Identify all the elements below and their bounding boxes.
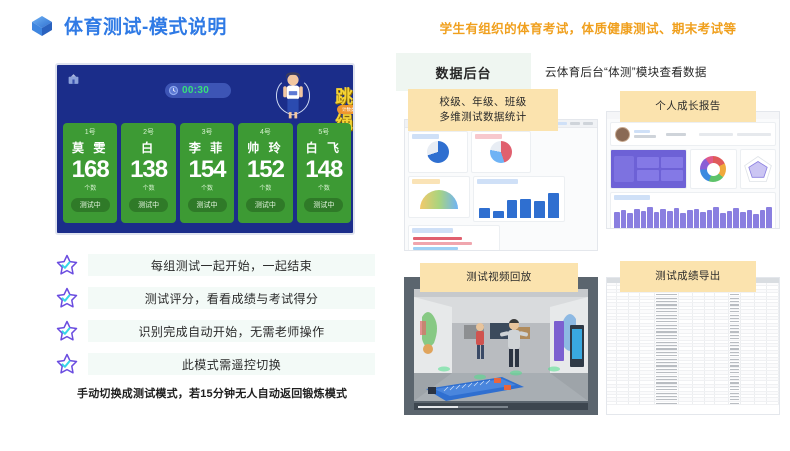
avatar (615, 127, 630, 142)
player-unit: 个数 (201, 183, 213, 192)
player-count: 148 (305, 157, 342, 182)
player-status: 测试中 (304, 198, 343, 212)
feature-item: 测试评分，看看成绩与考试得分 (55, 286, 375, 310)
feature-text: 识别完成自动开始，无需老师操作 (88, 320, 375, 342)
player-number: 3号 (202, 127, 213, 137)
player-cards-row: 1号 莫 雯 168 个数 测试中 2号 白 138 个数 测试中 3号 李 菲… (63, 123, 351, 223)
player-number: 1号 (85, 127, 96, 137)
toolbar-chip (570, 122, 580, 125)
caption-school-stats: 校级、年级、班级 多维测试数据统计 (408, 89, 558, 131)
player-card: 1号 莫 雯 168 个数 测试中 (63, 123, 117, 223)
player-card: 4号 帅 玲 152 个数 测试中 (238, 123, 292, 223)
card-title-placeholder (412, 228, 453, 233)
player-count: 168 (72, 157, 109, 182)
donut-chart (700, 156, 726, 182)
star-check-icon (55, 286, 79, 310)
feature-footnote: 手动切换成测试模式，若15分钟无人自动返回锻炼模式 (77, 385, 375, 401)
backend-description: 云体育后台“体测”模块查看数据 (531, 53, 780, 91)
feature-item: 每组测试一起开始，一起结束 (55, 253, 375, 277)
feature-text: 此模式需遥控切换 (88, 353, 375, 375)
player-name: 白 飞 (306, 139, 342, 156)
vertical-bar-chart (474, 186, 564, 218)
player-number: 4号 (260, 127, 271, 137)
screenshot-grid: 校级、年级、班级 多维测试数据统计 个人成长报告 测试视频回放 测试成绩导出 (396, 95, 780, 425)
personal-growth-report-screenshot[interactable] (606, 111, 780, 229)
left-column: 00:30 跳绳 计数类项目 1号 莫 雯 168 个数 测试中 (55, 63, 355, 401)
card-title-placeholder (475, 134, 502, 139)
player-card: 5号 白 飞 148 个数 测试中 (297, 123, 351, 223)
school-stats-dashboard-screenshot[interactable] (404, 119, 598, 251)
caption-video-playback: 测试视频回放 (420, 263, 578, 292)
horizontal-bar-card (408, 225, 500, 251)
score-summary-card (610, 149, 687, 189)
star-check-icon (55, 352, 79, 376)
horizontal-bar-chart (409, 235, 499, 251)
player-status: 测试中 (188, 198, 227, 212)
test-video-playback-screenshot[interactable] (404, 277, 598, 415)
export-spreadsheet (607, 278, 779, 414)
hexagon-logo-icon (30, 14, 54, 38)
dashboard-body (405, 128, 597, 251)
player-count: 154 (188, 157, 225, 182)
bar-chart-card (473, 176, 565, 222)
donut-chart (427, 141, 449, 163)
player-status: 测试中 (71, 198, 110, 212)
caption-score-export: 测试成绩导出 (620, 261, 756, 292)
feature-list: 每组测试一起开始，一起结束 测试评分，看看成绩与考试得分 识别完成自动开始，无需… (55, 253, 375, 401)
caption-line: 多维测试数据统计 (418, 110, 548, 125)
right-headline: 学生有组织的体育考试，体质健康测试、期末考试等 (396, 18, 780, 37)
card-title-placeholder (412, 134, 439, 139)
player-status: 测试中 (246, 198, 285, 212)
score-export-table-screenshot[interactable] (606, 277, 780, 415)
caption-growth-report: 个人成长报告 (620, 91, 756, 122)
player-name: 莫 雯 (72, 139, 108, 156)
player-name: 白 (141, 139, 156, 156)
player-card: 2号 白 138 个数 测试中 (121, 123, 175, 223)
player-unit: 个数 (143, 183, 155, 192)
star-check-icon (55, 253, 79, 277)
table-body (607, 283, 779, 414)
card-title-placeholder (477, 179, 518, 184)
player-unit: 个数 (259, 183, 271, 192)
right-column: 学生有组织的体育考试，体质健康测试、期末考试等 数据后台 云体育后台“体测”模块… (396, 18, 780, 425)
feature-item: 识别完成自动开始，无需老师操作 (55, 319, 375, 343)
page-title: 体育测试-模式说明 (64, 12, 227, 39)
star-check-icon (55, 319, 79, 343)
player-name: 帅 玲 (247, 139, 283, 156)
table-row (607, 402, 779, 405)
kpi-card-gauge (408, 176, 470, 218)
daily-trend-card (610, 192, 776, 229)
player-status: 测试中 (129, 198, 168, 212)
feature-item: 此模式需遥控切换 (55, 352, 375, 376)
player-number: 5号 (318, 127, 329, 137)
page-header: 体育测试-模式说明 (30, 12, 227, 39)
kpi-card-donut (408, 131, 468, 173)
timer-value: 00:30 (182, 85, 209, 96)
school-badge-icon (67, 73, 80, 86)
player-unit: 个数 (84, 183, 96, 192)
feature-text: 测试评分，看看成绩与考试得分 (88, 287, 375, 309)
caption-line: 校级、年级、班级 (418, 95, 548, 110)
card-title-placeholder (412, 179, 440, 184)
player-unit: 个数 (318, 183, 330, 192)
clock-icon (168, 85, 179, 96)
kpi-card-donut (471, 131, 531, 173)
radar-chart-card (740, 149, 776, 189)
countdown-timer: 00:30 (165, 83, 231, 98)
backend-tag: 数据后台 (396, 53, 531, 91)
feature-text: 每组测试一起开始，一起结束 (88, 254, 375, 276)
sport-type-badge: 计数类项目 (337, 105, 355, 114)
device-screen-preview: 00:30 跳绳 计数类项目 1号 莫 雯 168 个数 测试中 (55, 63, 355, 235)
player-card: 3号 李 菲 154 个数 测试中 (180, 123, 234, 223)
player-count: 138 (130, 157, 167, 182)
player-count: 152 (247, 157, 284, 182)
radar-chart (741, 154, 775, 184)
gauge-chart (420, 190, 458, 209)
backend-row: 数据后台 云体育后台“体测”模块查看数据 (396, 53, 780, 91)
jump-rope-athlete-icon (272, 70, 314, 122)
student-profile-card (610, 122, 776, 146)
toolbar-chip (583, 122, 593, 125)
donut-chart (490, 141, 512, 163)
player-number: 2号 (143, 127, 154, 137)
multicolor-donut-card (690, 149, 737, 189)
player-name: 李 菲 (189, 139, 225, 156)
vertical-bar-chart (611, 202, 775, 228)
gym-scene-image (404, 277, 598, 415)
